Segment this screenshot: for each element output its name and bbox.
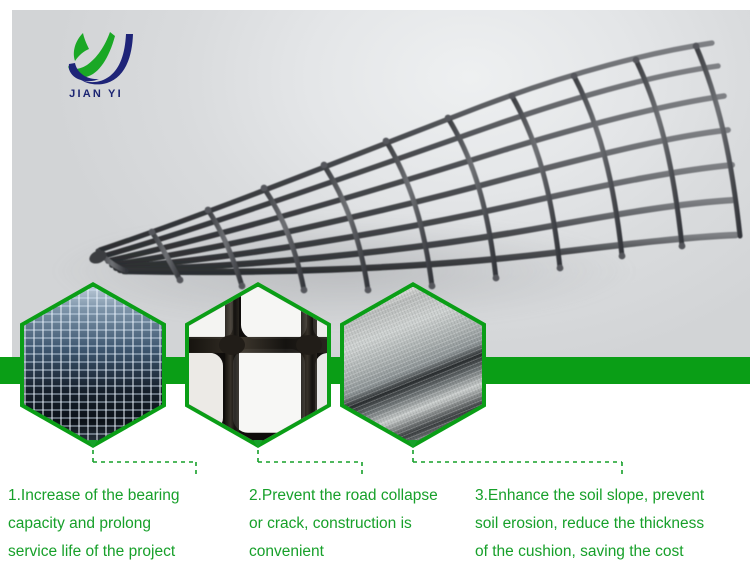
- product-banner: JIAN YI: [0, 0, 750, 581]
- feature-caption-2: 2.Prevent the road collapse or crack, co…: [249, 482, 471, 566]
- geogrid-roll-weave-photo-icon: [24, 287, 162, 444]
- caption-line: soil erosion, reduce the thickness: [475, 510, 743, 538]
- caption-line: 2.Prevent the road collapse: [249, 482, 471, 510]
- brand-name: JIAN YI: [42, 88, 150, 100]
- caption-line: convenient: [249, 538, 471, 566]
- dashed-connectors: [0, 440, 750, 488]
- caption-line: capacity and prolong: [8, 510, 240, 538]
- feature-caption-1: 1.Increase of the bearing capacity and p…: [8, 482, 240, 566]
- connector-arrow-3: [407, 440, 419, 448]
- caption-line: service life of the project: [8, 538, 240, 566]
- connector-arrow-2: [252, 440, 264, 448]
- geogrid-grid-closeup-photo-icon: [189, 287, 327, 444]
- caption-line: 1.Increase of the bearing: [8, 482, 240, 510]
- feature-caption-3: 3.Enhance the soil slope, prevent soil e…: [475, 482, 743, 566]
- caption-line: of the cushion, saving the cost: [475, 538, 743, 566]
- feature-captions: 1.Increase of the bearing capacity and p…: [0, 482, 750, 581]
- caption-line: 3.Enhance the soil slope, prevent: [475, 482, 743, 510]
- leaf-swoosh-j-logo-icon: [53, 28, 139, 86]
- brand-logo: JIAN YI: [42, 28, 150, 114]
- geogrid-rolls-stack-photo-icon: [344, 287, 482, 444]
- connector-arrow-1: [87, 440, 99, 448]
- caption-line: or crack, construction is: [249, 510, 471, 538]
